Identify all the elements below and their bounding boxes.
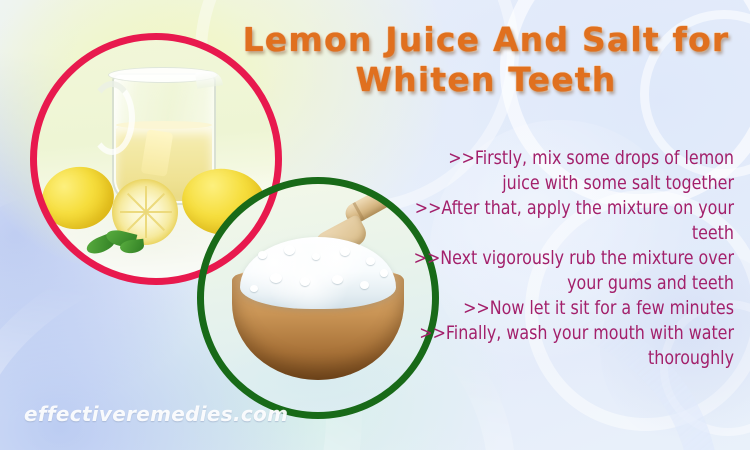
page-title: Lemon Juice And Salt for Whiten Teeth (236, 20, 736, 101)
instruction-step: >>After that, apply the mixture on your … (410, 196, 734, 246)
instruction-step: >>Now let it sit for a few minutes (410, 296, 734, 321)
title-line-2: Whiten Teeth (236, 60, 736, 100)
title-line-1: Lemon Juice And Salt for (236, 20, 736, 60)
instruction-step: >>Firstly, mix some drops of lemon juice… (410, 146, 734, 196)
instruction-step: >>Next vigorously rub the mixture over y… (410, 246, 734, 296)
watermark-site-name: effectiveremedies.com (24, 402, 288, 426)
instruction-step: >>Finally, wash your mouth with water th… (410, 321, 734, 371)
highlight-circle-salt (197, 177, 439, 419)
infographic-canvas: Lemon Juice And Salt for Whiten Teeth >>… (0, 0, 750, 450)
instruction-steps-list: >>Firstly, mix some drops of lemon juice… (410, 146, 734, 371)
